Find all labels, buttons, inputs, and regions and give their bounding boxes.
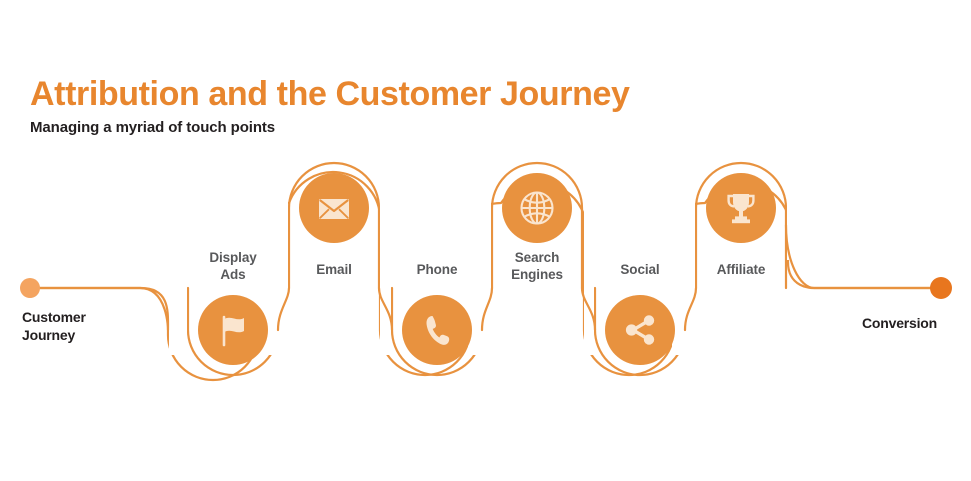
envelope-icon xyxy=(315,189,353,227)
journey-node-social[interactable] xyxy=(605,295,675,365)
journey-node-affiliate[interactable] xyxy=(706,173,776,243)
journey-start-label: Customer Journey xyxy=(22,308,86,344)
flag-icon xyxy=(214,311,252,349)
infographic-canvas: Attribution and the Customer Journey Man… xyxy=(0,0,971,481)
journey-node-email[interactable] xyxy=(299,173,369,243)
start-dot-icon xyxy=(20,278,40,298)
trophy-icon xyxy=(722,189,760,227)
journey-path-svg xyxy=(0,0,971,481)
journey-node-phone[interactable] xyxy=(402,295,472,365)
journey-node-label-affiliate: Affiliate xyxy=(671,261,811,278)
journey-end-label: Conversion xyxy=(862,314,937,332)
globe-icon xyxy=(517,188,557,228)
journey-node-search-engines[interactable] xyxy=(502,173,572,243)
phone-icon xyxy=(418,311,456,349)
customer-journey-diagram: Customer Journey Conversion Display Ads xyxy=(0,0,971,481)
end-dot-icon xyxy=(930,277,952,299)
journey-node-display-ads[interactable] xyxy=(198,295,268,365)
share-icon xyxy=(621,311,659,349)
